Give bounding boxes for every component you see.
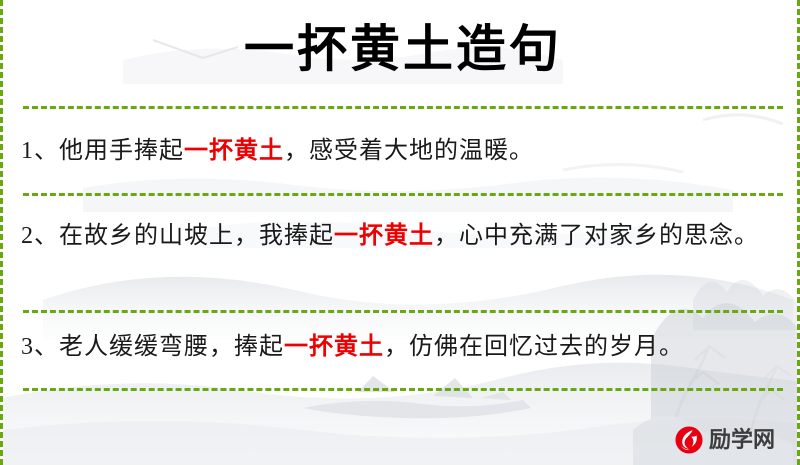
logo-text: 励学网 [709, 425, 775, 455]
sentence-2-keyword: 一抔黄土 [334, 223, 434, 249]
sentence-item-3: 3、老人缓缓弯腰，捧起一抔黄土，仿佛在回忆过去的岁月。 [21, 326, 785, 368]
sentence-1-before: 他用手捧起 [59, 138, 184, 164]
worksheet-page: 一抔黄土造句 1、他用手捧起一抔黄土，感受着大地的温暖。 2、在故乡的山坡上，我… [0, 0, 800, 465]
divider-after-sentence-2 [23, 310, 783, 313]
sentence-2-after: ，心中充满了对家乡的思念。 [434, 223, 759, 249]
sentence-1-after: ，感受着大地的温暖。 [284, 138, 534, 164]
sentence-1-keyword: 一抔黄土 [184, 138, 284, 164]
red-flame-swirl-icon [674, 425, 704, 455]
site-logo: 励学网 [674, 425, 775, 455]
sentence-3-keyword: 一抔黄土 [284, 334, 384, 360]
divider-bottom [23, 388, 783, 391]
sentence-3-after: ，仿佛在回忆过去的岁月。 [384, 334, 684, 360]
sentence-1-index: 1、 [21, 138, 59, 164]
sentence-2-before: 在故乡的山坡上，我捧起 [59, 223, 334, 249]
sentence-2-index: 2、 [21, 223, 59, 249]
worksheet-content: 一抔黄土造句 1、他用手捧起一抔黄土，感受着大地的温暖。 2、在故乡的山坡上，我… [3, 0, 800, 465]
page-title: 一抔黄土造句 [3, 18, 800, 80]
sentence-item-1: 1、他用手捧起一抔黄土，感受着大地的温暖。 [21, 130, 785, 172]
divider-top [23, 106, 783, 109]
sentence-3-index: 3、 [21, 334, 59, 360]
sentence-item-2: 2、在故乡的山坡上，我捧起一抔黄土，心中充满了对家乡的思念。 [21, 215, 785, 257]
sentence-3-before: 老人缓缓弯腰，捧起 [59, 334, 284, 360]
divider-after-sentence-1 [23, 193, 783, 196]
